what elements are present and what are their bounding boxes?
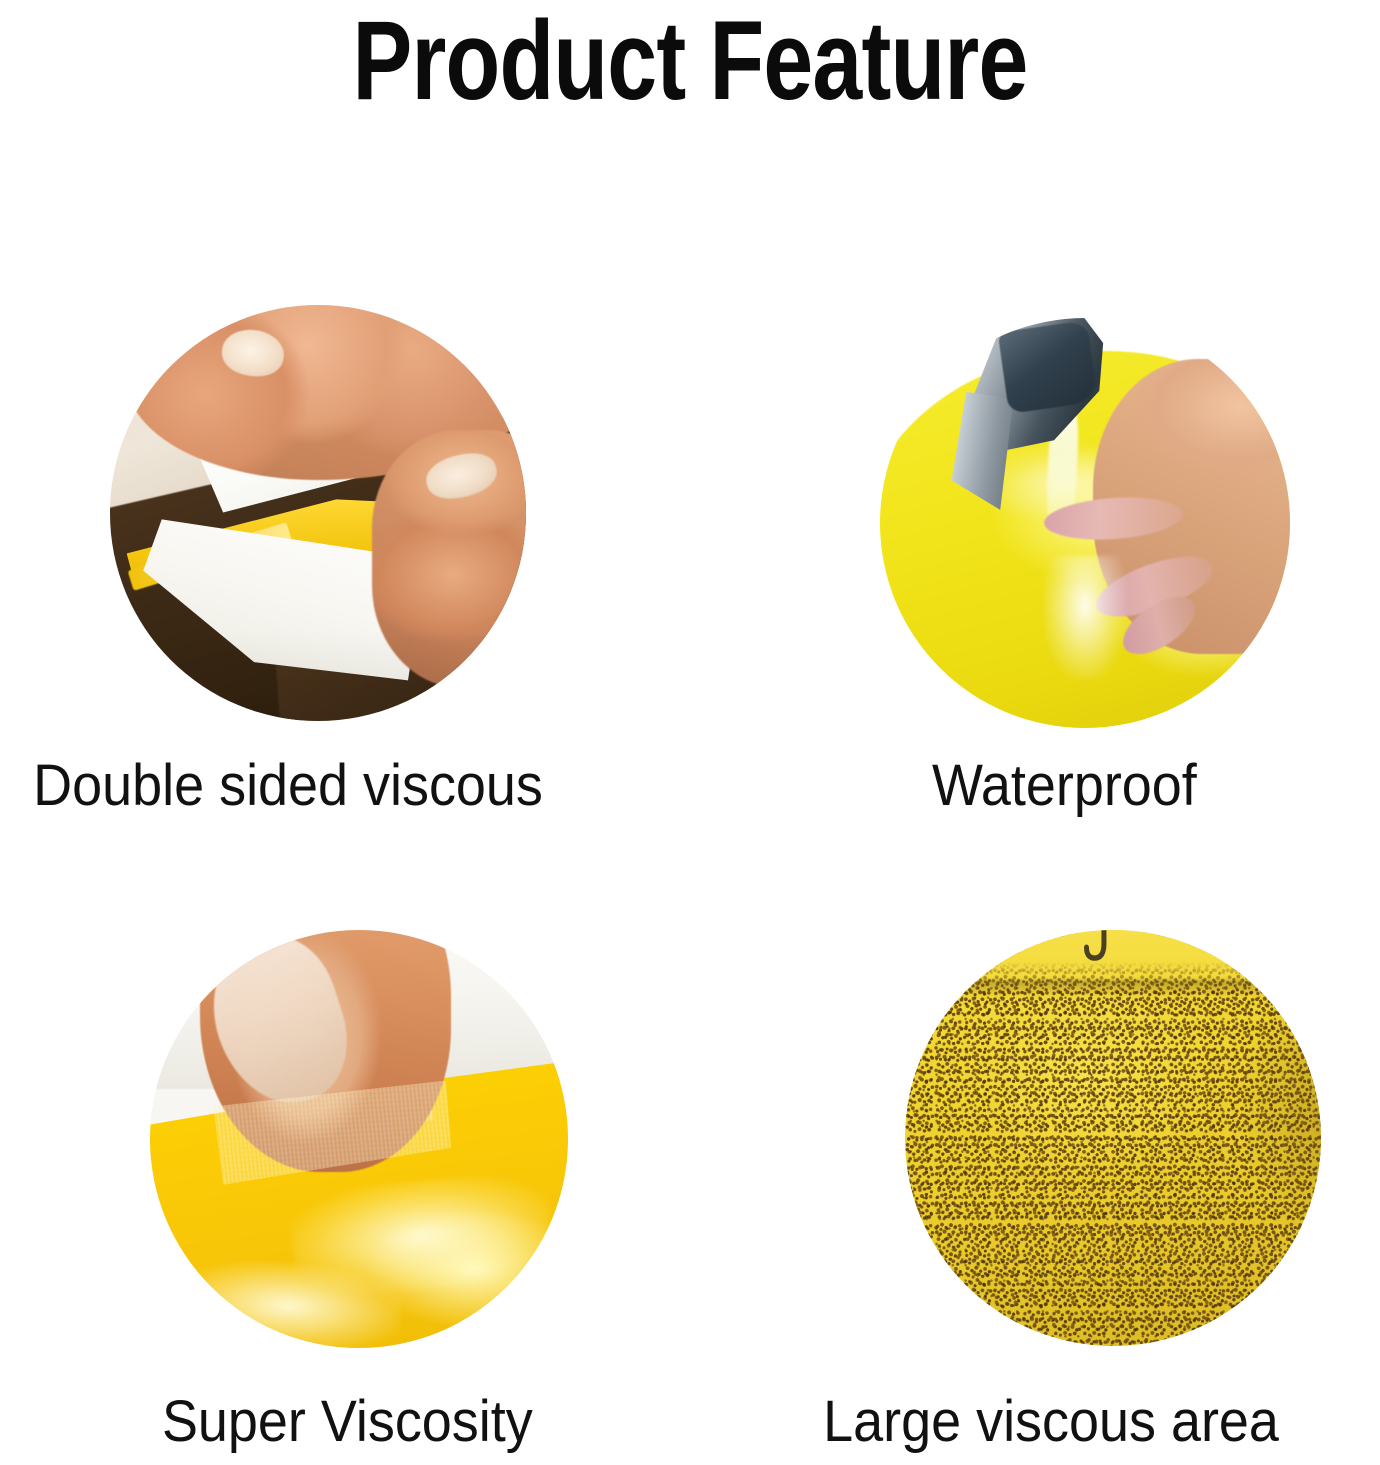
feature-image-faucet-water xyxy=(880,318,1290,728)
hanging-hook-icon xyxy=(1084,930,1117,967)
feature-caption-3: Super Viscosity xyxy=(162,1393,533,1451)
right-edge-shadow xyxy=(1238,955,1321,1255)
feature-caption-4: Large viscous area xyxy=(823,1393,1279,1451)
product-feature-infographic: Product Feature Double sided viscous xyxy=(0,0,1380,1465)
hook-wire-shape xyxy=(1084,930,1117,967)
faucet-dark-reflection xyxy=(998,320,1099,414)
page-title: Product Feature xyxy=(138,2,1242,120)
feature-caption-2: Waterproof xyxy=(932,757,1197,815)
feature-image-sticky-glue-strings xyxy=(150,930,568,1348)
water-splash-highlight xyxy=(1044,556,1126,679)
feature-image-trap-with-insects xyxy=(905,930,1321,1346)
feature-caption-1: Double sided viscous xyxy=(33,757,543,815)
glue-highlight-lower xyxy=(172,1257,403,1348)
feature-image-peeling-liner xyxy=(110,305,526,721)
